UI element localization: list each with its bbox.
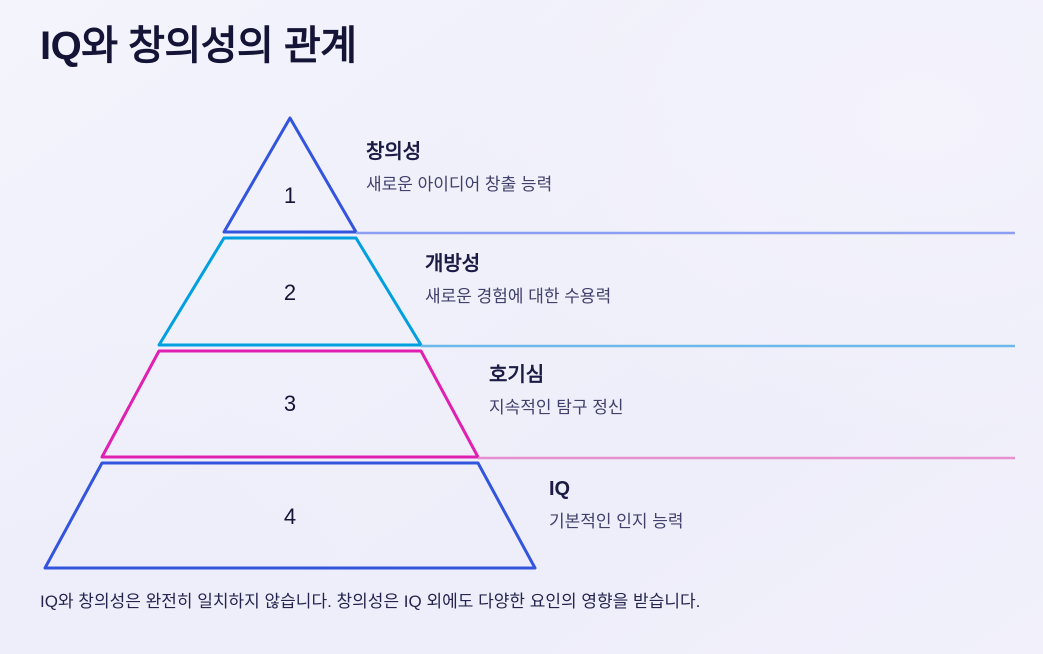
pyramid-tier-4-title: IQ xyxy=(549,477,684,502)
footer-note: IQ와 창의성은 완전히 일치하지 않습니다. 창의성은 IQ 외에도 다양한 … xyxy=(40,590,700,614)
pyramid-tier-2-description: 새로운 경험에 대한 수용력 xyxy=(425,286,611,308)
pyramid-tier-3-title: 호기심 xyxy=(489,363,624,388)
pyramid-tier-3-shape[interactable] xyxy=(102,351,478,457)
pyramid-tier-1-description: 새로운 아이디어 창출 능력 xyxy=(366,174,552,196)
pyramid-tier-3-label[interactable]: 호기심 지속적인 탐구 정신 xyxy=(489,363,624,419)
pyramid-tier-2-shape[interactable] xyxy=(159,238,421,345)
slide-canvas: IQ와 창의성의 관계 1 2 3 4 창의성 새로운 아이디어 창출 능력 개… xyxy=(0,0,1043,654)
pyramid-tier-3-description: 지속적인 탐구 정신 xyxy=(489,397,624,419)
pyramid-tier-2-label[interactable]: 개방성 새로운 경험에 대한 수용력 xyxy=(425,252,611,308)
pyramid-tier-4-label[interactable]: IQ 기본적인 인지 능력 xyxy=(549,477,684,533)
pyramid-diagram xyxy=(0,0,1043,654)
pyramid-tier-1-shape[interactable] xyxy=(224,118,356,232)
pyramid-tier-1-label[interactable]: 창의성 새로운 아이디어 창출 능력 xyxy=(366,140,552,196)
pyramid-tier-4-shape[interactable] xyxy=(45,463,535,568)
pyramid-tier-2-title: 개방성 xyxy=(425,252,611,277)
pyramid-tier-4-description: 기본적인 인지 능력 xyxy=(549,511,684,533)
pyramid-tier-1-title: 창의성 xyxy=(366,140,552,165)
